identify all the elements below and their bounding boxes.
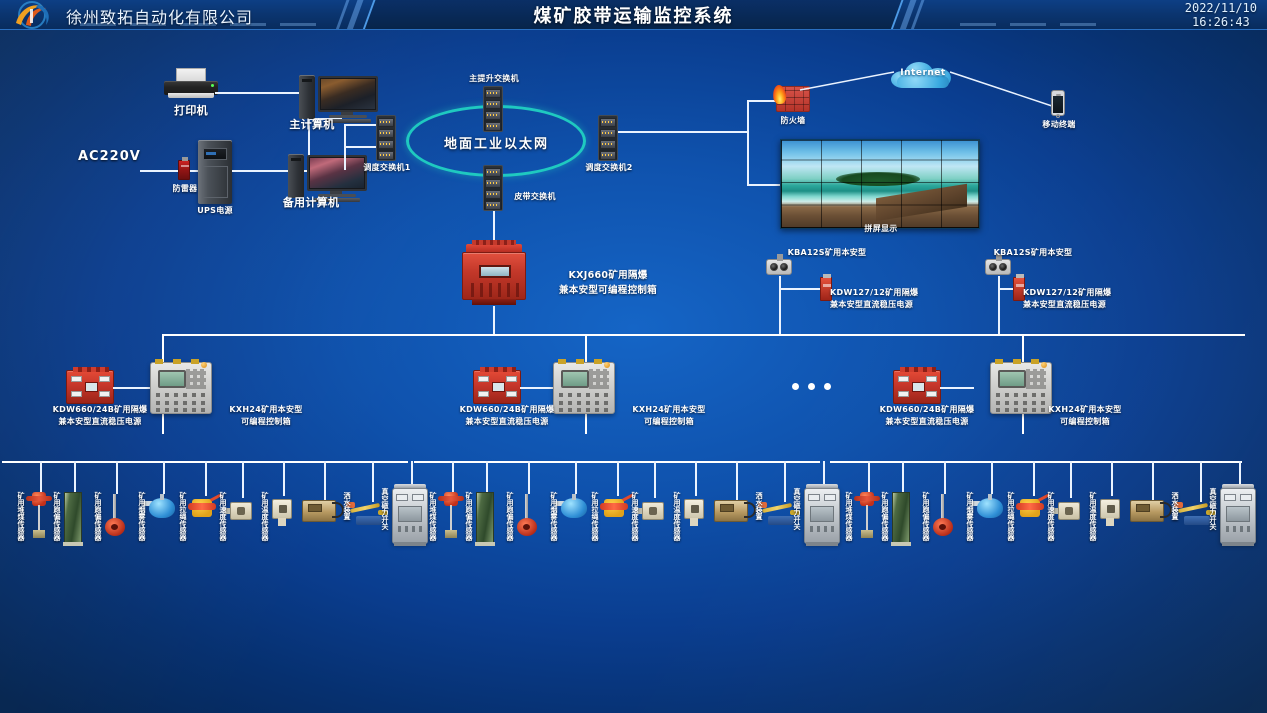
switch-hoist-icon[interactable]	[483, 86, 503, 132]
backup-computer-tower	[288, 154, 304, 198]
sensor-drop-wire	[654, 461, 656, 498]
sensor-drop-wire	[324, 461, 326, 500]
station-1-ctrl-label-line1: KXH24矿用本安型	[208, 405, 324, 415]
station-3-ctrl-label-line2: 可编程控制箱	[1027, 417, 1143, 427]
sensor-label: 矿用跑偏传感器	[922, 492, 930, 541]
sensor-drop-wire	[1111, 461, 1113, 496]
belt-deviation-sensor-icon[interactable]	[476, 492, 496, 550]
wire-station2-power-to-ctrl	[520, 387, 554, 389]
wire-camera1-to-power	[779, 288, 823, 290]
sensor-drop-wire	[116, 461, 118, 494]
switch-belt-label: 皮带交换机	[496, 192, 574, 202]
main-computer-monitor	[318, 76, 378, 112]
kdw127-1-label-line2: 兼本安型直流稳压电源	[830, 300, 956, 310]
temperature-sensor-icon[interactable]	[684, 496, 706, 554]
video-wall-grid	[781, 140, 979, 228]
station-3-power-label-line2: 兼本安型直流稳压电源	[857, 417, 997, 427]
kdw127-2-label-line1: KDW127/12矿用隔爆	[1023, 288, 1139, 298]
sensor-label: 矿用跑偏传感器	[94, 492, 102, 541]
sensor-drop-wire	[74, 461, 76, 492]
printer-paper	[176, 68, 206, 82]
vacuum-magnetic-switch-icon[interactable]	[804, 488, 842, 546]
sensor-label: 矿用跑偏传感器	[506, 492, 514, 541]
kxj660-label-line2: 兼本安型可编程控制箱	[528, 286, 688, 296]
wire-mainpc-to-sw1	[344, 124, 378, 126]
sensor-drop-wire	[991, 461, 993, 494]
sensor-drop-wire	[575, 461, 577, 494]
switch-dispatch-2-label: 调度交换机2	[568, 163, 650, 173]
pull-cord-sensor-icon[interactable]	[602, 496, 632, 554]
speed-sensor-icon[interactable]	[230, 498, 254, 556]
sensor-label: 矿用拉绳传感器	[1007, 492, 1015, 541]
kdw127-1-label-line1: KDW127/12矿用隔爆	[830, 288, 946, 298]
sensor-label: 洒水装置	[343, 492, 351, 520]
coal-pile-sensor-icon[interactable]	[440, 492, 464, 550]
smoke-sensor-icon[interactable]	[149, 494, 177, 552]
sensor-drop-wire	[372, 461, 374, 502]
sensor-drop-wire	[452, 461, 454, 492]
stations-ellipsis	[792, 383, 831, 390]
sensor-label: 矿用烟雾传感器	[550, 492, 558, 541]
camera-1-label: KBA12S矿用本安型	[772, 248, 882, 258]
station-1-power-label-line2: 兼本安型直流稳压电源	[30, 417, 170, 427]
station-2-power-label-line2: 兼本安型直流稳压电源	[437, 417, 577, 427]
sensor-label: 矿用速度传感器	[1047, 492, 1055, 541]
camera-1-icon	[766, 259, 792, 275]
sensor-drop-wire	[736, 461, 738, 500]
camera-2-label: KBA12S矿用本安型	[978, 248, 1088, 258]
junction-box-icon[interactable]	[714, 500, 758, 558]
sensor-drop-wire	[902, 461, 904, 492]
switch-belt-icon[interactable]	[483, 165, 503, 211]
mobile-terminal-icon	[1051, 90, 1065, 116]
wire-backuppc-to-sw1	[344, 146, 378, 148]
speed-sensor-icon[interactable]	[1058, 498, 1082, 556]
vacuum-magnetic-switch-icon[interactable]	[1220, 488, 1258, 546]
sensor-drop-wire	[784, 461, 786, 502]
main-computer-label: 主计算机	[272, 120, 352, 130]
switch-dispatch-1-icon[interactable]	[376, 115, 396, 161]
station-2-ctrl-label-line2: 可编程控制箱	[611, 417, 727, 427]
surge-protector-icon	[178, 160, 190, 180]
ups-label: UPS电源	[185, 206, 245, 216]
sensor-label: 矿用堆煤传感器	[17, 492, 25, 541]
sensor-label: 矿用跑偏传感器	[881, 492, 889, 541]
sensor-label: 矿用速度传感器	[219, 492, 227, 541]
sensor-drop-wire	[242, 461, 244, 498]
station-2-power-label-line1: KDW660/24B矿用隔爆	[437, 405, 577, 415]
coal-pile-sensor-icon[interactable]	[28, 492, 52, 550]
station-3-ctrl-label-line1: KXH24矿用本安型	[1027, 405, 1143, 415]
sensor-drop-wire	[163, 461, 165, 494]
sensor-label: 矿用烟雾传感器	[138, 492, 146, 541]
sensor-drop-wire	[944, 461, 946, 494]
sensor-drop-wire	[40, 461, 42, 492]
printer-led	[211, 84, 214, 87]
backup-computer-monitor	[307, 155, 367, 191]
temperature-sensor-icon[interactable]	[1100, 496, 1122, 554]
sensor-label: 矿用拉绳传感器	[591, 492, 599, 541]
backup-computer-label: 备用计算机	[268, 198, 354, 208]
wire-station3-power-to-ctrl	[940, 387, 974, 389]
ups-door	[202, 166, 228, 198]
sensor-label: 真空磁力开关	[1209, 488, 1217, 530]
ac-source-label: AC220V	[78, 152, 141, 162]
ups-panel	[203, 148, 227, 160]
station-2-ctrl-label-line1: KXH24矿用本安型	[611, 405, 727, 415]
clock-time: 16:26:43	[1185, 15, 1257, 29]
sensor-label: 真空磁力开关	[793, 488, 801, 530]
wire-ac-to-surge	[140, 170, 178, 172]
belt-deviation-roller-icon[interactable]	[105, 494, 127, 552]
wire-fw-riser	[747, 100, 749, 184]
smoke-sensor-icon[interactable]	[561, 494, 589, 552]
vacuum-magnetic-switch-icon[interactable]	[392, 488, 430, 546]
wire-station1-power-to-ctrl	[113, 387, 151, 389]
belt-deviation-sensor-icon[interactable]	[892, 492, 912, 550]
pull-cord-sensor-icon[interactable]	[190, 496, 220, 554]
switch-hoist-label: 主提升交换机	[443, 74, 545, 84]
kxj660-label-line1: KXJ660矿用隔爆	[528, 271, 688, 281]
sensor-drop-wire	[528, 461, 530, 494]
sensor-drop-wire	[868, 461, 870, 492]
sensor-label: 矿用跑偏传感器	[465, 492, 473, 541]
station-1-power-label-line1: KDW660/24B矿用隔爆	[30, 405, 170, 415]
wire-camera2-to-bus	[998, 276, 1000, 334]
sensor-label: 真空磁力开关	[381, 488, 389, 530]
speed-sensor-icon[interactable]	[642, 498, 666, 556]
sensor-label: 矿用速度传感器	[631, 492, 639, 541]
junction-box-icon[interactable]	[1130, 500, 1174, 558]
belt-deviation-roller-icon[interactable]	[933, 494, 955, 552]
kdw127-2-label-line2: 兼本安型直流稳压电源	[1023, 300, 1149, 310]
flame-icon	[772, 84, 787, 104]
sensor-label: 矿用堆煤传感器	[429, 492, 437, 541]
sensor-drop-wire	[205, 461, 207, 496]
video-wall-display	[780, 139, 980, 229]
wire-sw2-to-fw-h	[618, 131, 748, 133]
sensor-drop-wire	[1152, 461, 1154, 500]
sensor-drop-wire	[1070, 461, 1072, 498]
sensor-label: 矿用堆煤传感器	[845, 492, 853, 541]
junction-box-icon[interactable]	[302, 500, 346, 558]
station-1-power-icon[interactable]	[66, 370, 114, 404]
station-3-power-label-line1: KDW660/24B矿用隔爆	[857, 405, 997, 415]
sensor-label: 洒水装置	[1171, 492, 1179, 520]
sensor-drop-wire	[1200, 461, 1202, 502]
diagram-canvas: 徐州致拓自动化有限公司 煤矿胶带运输监控系统 2022/11/10 16:26:…	[0, 0, 1267, 713]
wire-to-videowall	[747, 184, 780, 186]
sensor-bus-group-3	[830, 461, 1242, 463]
sensor-drop-wire	[617, 461, 619, 496]
kxj660-controller-icon[interactable]	[462, 244, 526, 306]
printer-label: 打印机	[160, 106, 222, 116]
clock-date: 2022/11/10	[1185, 1, 1257, 15]
ethernet-ring-label: 地面工业以太网	[444, 133, 549, 152]
mobile-terminal-label: 移动终端	[1030, 120, 1088, 130]
sensor-label: 矿用温度传感器	[261, 492, 269, 541]
belt-deviation-sensor-icon[interactable]	[64, 492, 84, 550]
belt-deviation-roller-icon[interactable]	[517, 494, 539, 552]
station-3-power-icon[interactable]	[893, 370, 941, 404]
sensor-label: 矿用拉绳传感器	[179, 492, 187, 541]
internet-link-lines	[790, 62, 1070, 122]
coal-pile-sensor-icon[interactable]	[856, 492, 880, 550]
sensor-drop-wire	[1033, 461, 1035, 496]
station-2-power-icon[interactable]	[473, 370, 521, 404]
printer-tray	[168, 93, 214, 98]
sensor-label: 矿用烟雾传感器	[966, 492, 974, 541]
clock-widget: 2022/11/10 16:26:43	[1185, 1, 1257, 29]
main-backbone-bus	[162, 334, 1245, 336]
printer-icon	[164, 68, 218, 98]
main-computer-tower	[299, 75, 315, 119]
sensor-label: 矿用跑偏传感器	[53, 492, 61, 541]
sensor-label: 洒水装置	[755, 492, 763, 520]
sensor-label: 矿用温度传感器	[673, 492, 681, 541]
sensor-drop-wire	[695, 461, 697, 496]
sensor-drop-wire	[283, 461, 285, 496]
station-1-ctrl-label-line2: 可编程控制箱	[208, 417, 324, 427]
video-wall-label: 拼屏显示	[851, 224, 911, 234]
system-title: 煤矿胶带运输监控系统	[0, 2, 1267, 28]
ups-icon	[198, 140, 232, 204]
wire-to-firewall	[747, 100, 777, 102]
main-computer-screen	[321, 79, 375, 109]
app-header: 徐州致拓自动化有限公司 煤矿胶带运输监控系统 2022/11/10 16:26:…	[0, 0, 1267, 30]
switch-dispatch-2-icon[interactable]	[598, 115, 618, 161]
pull-cord-sensor-icon[interactable]	[1018, 496, 1048, 554]
wire-kxj-to-bus	[493, 306, 495, 335]
temperature-sensor-icon[interactable]	[272, 496, 294, 554]
smoke-sensor-icon[interactable]	[977, 494, 1005, 552]
camera-2-icon	[985, 259, 1011, 275]
sensor-drop-wire	[486, 461, 488, 492]
sensor-label: 矿用温度传感器	[1089, 492, 1097, 541]
switch-dispatch-1-label: 调度交换机1	[346, 163, 428, 173]
wire-camera1-to-bus	[779, 276, 781, 334]
